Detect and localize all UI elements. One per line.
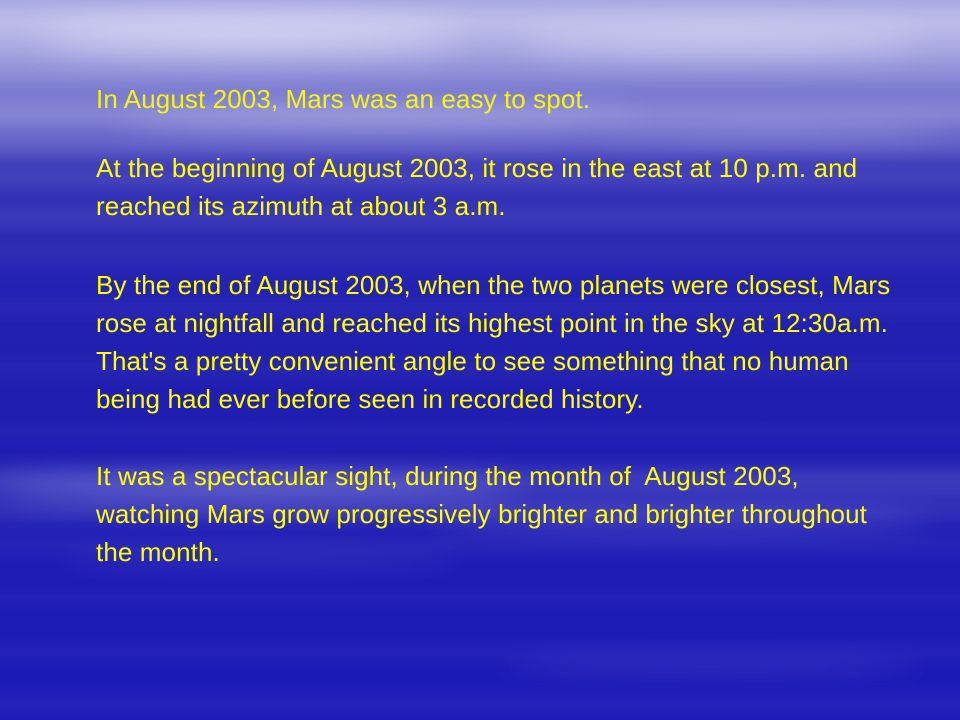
slide-paragraph-1: In August 2003, Mars was an easy to spot… [96,80,908,118]
slide-paragraph-3: By the end of August 2003, when the two … [96,266,908,418]
slide-paragraph-2: At the beginning of August 2003, it rose… [96,149,908,225]
slide-paragraph-4: It was a spectacular sight, during the m… [96,457,908,571]
slide-text-body: In August 2003, Mars was an easy to spot… [96,80,908,571]
presentation-slide: In August 2003, Mars was an easy to spot… [0,0,960,720]
